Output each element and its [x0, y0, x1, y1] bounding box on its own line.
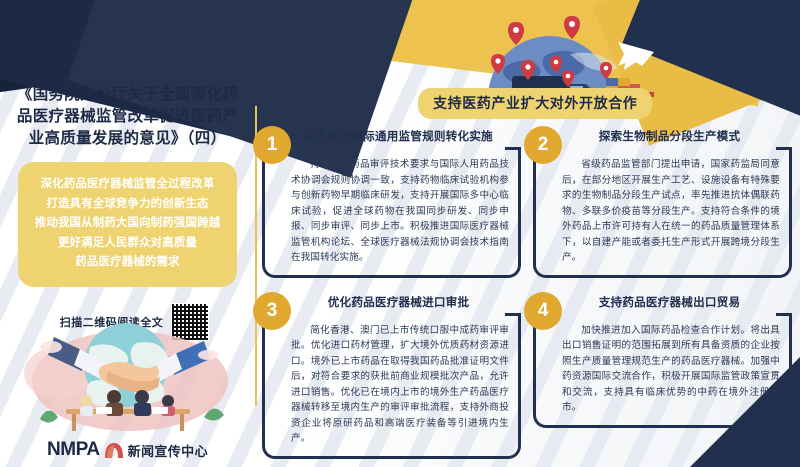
card-number-4: 4: [524, 292, 562, 330]
highlight-line-3: 推动我国从制药大国向制药强国跨越: [28, 214, 227, 234]
page-title: 《国务院办公厅关于全面深化药品医疗器械监管改革促进医药产业高质量发展的意见》（四…: [0, 84, 255, 150]
nmpa-arch-icon: [103, 441, 125, 459]
handshake-globe-illustration: [18, 315, 238, 433]
card-number-1: 1: [253, 126, 291, 164]
card-frame-2: 2 省级药品监管部门提出申请，国家药监局同意后，在部分地区开展生产工艺、设施设备…: [533, 150, 792, 278]
card-body-4: 加快推进加入国际药品检查合作计划。将出具出口销售证明的范围拓展到所有具备资质的企…: [562, 323, 780, 416]
card-row-bottom: 优化药品医疗器械进口审批 3 简化香港、澳门已上市传统口服中成药审评审批。优化进…: [262, 294, 792, 459]
card-number-3: 3: [253, 292, 291, 330]
highlight-line-2: 打造具有全球竞争力的创新生态: [28, 195, 227, 215]
card-body-1: 持续推动药品审评技术要求与国际人用药品技术协调会规则协调一致，支持药物临床试验机…: [291, 157, 509, 266]
infographic-poster: 《国务院办公厅关于全面深化药品医疗器械监管改革促进医药产业高质量发展的意见》（四…: [0, 0, 800, 467]
card-frame-4: 4 加快推进加入国际药品检查合作计划。将出具出口销售证明的范围拓展到所有具备资质…: [533, 316, 792, 428]
cards-grid: 深入推进国际通用监管规则转化实施 1 持续推动药品审评技术要求与国际人用药品技术…: [262, 128, 792, 467]
card-body-3: 简化香港、澳门已上市传统口服中成药审评审批。优化进口药材管理，扩大境外优质药材资…: [291, 323, 509, 447]
highlight-line-1: 深化药品医疗器械监管全过程改革: [28, 175, 227, 195]
content-card-1: 深入推进国际通用监管规则转化实施 1 持续推动药品审评技术要求与国际人用药品技术…: [262, 128, 521, 278]
highlight-line-4: 更好满足人民群众对高质量: [28, 234, 227, 254]
left-column: 《国务院办公厅关于全面深化药品医疗器械监管改革促进医药产业高质量发展的意见》（四…: [0, 84, 255, 341]
card-title-4: 支持药品医疗器械出口贸易: [533, 294, 792, 310]
brand-logo: NMPA 新闻宣传中心: [0, 439, 255, 461]
highlight-line-5: 药品医疗器械的需求: [28, 253, 227, 273]
card-frame-1: 1 持续推动药品审评技术要求与国际人用药品技术协调会规则协调一致，支持药物临床试…: [262, 150, 521, 278]
card-title-3: 优化药品医疗器械进口审批: [262, 294, 521, 310]
card-title-1: 深入推进国际通用监管规则转化实施: [262, 128, 521, 144]
banner-badge: 支持医药产业扩大对外开放合作: [418, 88, 652, 119]
highlight-box: 深化药品医疗器械监管全过程改革 打造具有全球竞争力的创新生态 推动我国从制药大国…: [18, 162, 237, 287]
brand-name: NMPA: [47, 439, 100, 461]
brand-subtitle: 新闻宣传中心: [128, 441, 208, 460]
content-card-2: 探索生物制品分段生产模式 2 省级药品监管部门提出申请，国家药监局同意后，在部分…: [533, 128, 792, 278]
content-card-4: 支持药品医疗器械出口贸易 4 加快推进加入国际药品检查合作计划。将出具出口销售证…: [533, 294, 792, 459]
card-body-2: 省级药品监管部门提出申请，国家药监局同意后，在部分地区开展生产工艺、设施设备有特…: [562, 157, 780, 266]
content-card-3: 优化药品医疗器械进口审批 3 简化香港、澳门已上市传统口服中成药审评审批。优化进…: [262, 294, 521, 459]
card-row-top: 深入推进国际通用监管规则转化实施 1 持续推动药品审评技术要求与国际人用药品技术…: [262, 128, 792, 278]
card-title-2: 探索生物制品分段生产模式: [533, 128, 792, 144]
card-number-2: 2: [524, 126, 562, 164]
card-frame-3: 3 简化香港、澳门已上市传统口服中成药审评审批。优化进口药材管理，扩大境外优质药…: [262, 316, 521, 459]
